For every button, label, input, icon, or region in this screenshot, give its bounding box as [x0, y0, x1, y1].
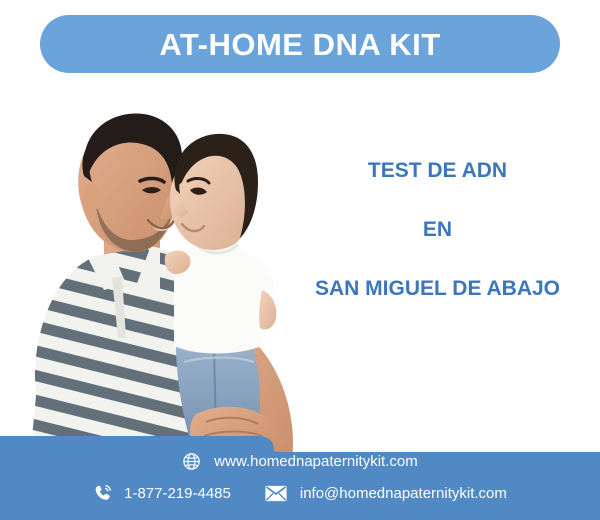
header-banner: AT-HOME DNA KIT: [40, 15, 560, 73]
headline-block: TEST DE ADN EN SAN MIGUEL DE ABAJO: [275, 160, 600, 299]
email-label: info@homednapaternitykit.com: [300, 485, 507, 502]
globe-icon: [182, 452, 201, 471]
phone-icon: [93, 483, 113, 503]
father-and-child-illustration: [0, 78, 320, 458]
website-label: www.homednapaternitykit.com: [214, 453, 417, 470]
hero-photo: [0, 78, 320, 458]
footer-website-row[interactable]: www.homednapaternitykit.com: [0, 452, 600, 471]
phone-label: 1-877-219-4485: [124, 485, 231, 502]
headline-line-2: EN: [275, 219, 600, 240]
page-title: AT-HOME DNA KIT: [159, 29, 440, 60]
footer-content: www.homednapaternitykit.com 1-877-219-44…: [0, 436, 600, 520]
envelope-icon: [265, 485, 287, 502]
footer-contact-row: 1-877-219-4485 info@homednapaternitykit.…: [0, 483, 600, 503]
poster-canvas: AT-HOME DNA KIT: [0, 0, 600, 520]
footer-bar: www.homednapaternitykit.com 1-877-219-44…: [0, 436, 600, 520]
headline-line-3: SAN MIGUEL DE ABAJO: [275, 278, 600, 299]
headline-line-1: TEST DE ADN: [275, 160, 600, 181]
